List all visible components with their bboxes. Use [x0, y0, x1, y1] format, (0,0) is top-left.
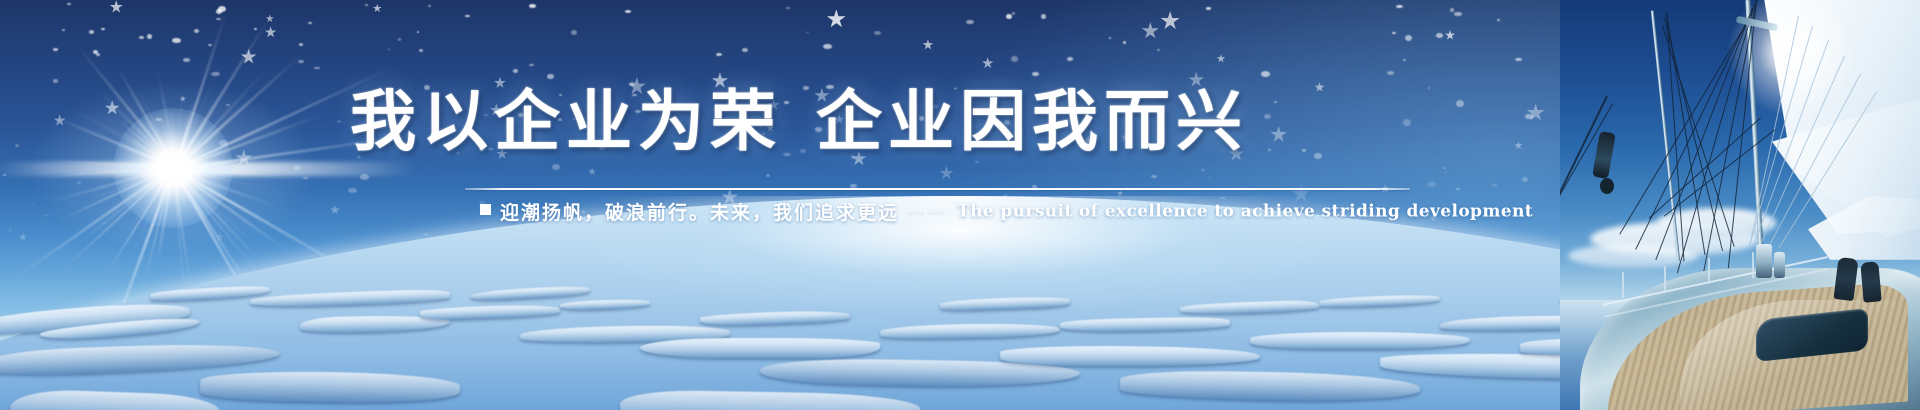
star-icon: [1405, 35, 1412, 42]
winch: [1756, 244, 1772, 278]
star-icon: [194, 29, 199, 33]
star-icon: [1456, 100, 1464, 107]
star-icon: [183, 58, 191, 62]
star-icon: [494, 77, 506, 89]
stanchion: [1752, 252, 1754, 278]
star-icon: [62, 29, 65, 31]
star-icon: [975, 161, 979, 163]
star-icon: [599, 144, 605, 149]
star-icon: [1011, 56, 1019, 62]
star-icon: [635, 110, 641, 113]
star-icon: [490, 103, 503, 116]
star-icon: [67, 3, 70, 6]
star-icon: [834, 114, 844, 124]
star-icon: [479, 148, 486, 152]
star-icon: [1427, 182, 1436, 187]
star-icon: [1302, 149, 1306, 152]
star-icon: [1454, 12, 1462, 15]
star-icon: [417, 31, 419, 33]
star-icon: [919, 116, 925, 121]
star-icon: [424, 85, 430, 90]
star-icon: [299, 43, 304, 46]
star-icon: [742, 48, 748, 52]
star-icon: [456, 152, 460, 154]
star-icon: [766, 174, 771, 177]
star-icon: [1086, 136, 1093, 142]
star-icon: [1202, 169, 1205, 171]
star-icon: [1067, 57, 1073, 61]
star-icon: [1141, 22, 1159, 40]
star-icon: [1456, 188, 1459, 190]
star-icon: [1274, 101, 1276, 103]
star-icon: [1160, 11, 1180, 31]
stanchion: [1708, 258, 1710, 284]
star-icon: [1314, 153, 1322, 160]
star-icon: [1381, 184, 1390, 193]
star-icon: [922, 39, 933, 50]
star-icon: [529, 64, 534, 66]
star-icon: [15, 144, 19, 147]
star-icon: [1151, 175, 1157, 178]
star-icon: [465, 15, 470, 17]
star-icon: [488, 148, 492, 150]
star-icon: [558, 118, 563, 121]
star-icon: [573, 118, 575, 120]
star-icon: [419, 49, 423, 52]
star-icon: [547, 74, 554, 79]
star-icon: [1392, 32, 1396, 35]
star-icon: [1032, 185, 1038, 190]
star-icon: [814, 88, 830, 104]
star-icon: [1492, 184, 1498, 186]
star-icon: [827, 9, 847, 29]
star-icon: [982, 57, 994, 69]
star-icon: [632, 94, 638, 97]
star-icon: [1006, 14, 1012, 19]
crew-member: [1860, 261, 1881, 302]
star-icon: [513, 69, 518, 73]
star-icon: [1387, 71, 1395, 75]
landmass: [640, 338, 880, 358]
star-icon: [826, 85, 834, 89]
star-icon: [172, 38, 181, 44]
star-icon: [208, 44, 212, 46]
star-icon: [874, 31, 881, 35]
star-icon: [766, 124, 775, 133]
stanchion: [1622, 272, 1624, 298]
star-icon: [768, 99, 780, 111]
star-icon: [966, 20, 974, 25]
star-icon: [53, 48, 58, 51]
star-icon: [298, 60, 304, 63]
star-icon: [216, 18, 221, 21]
star-icon: [1109, 37, 1112, 39]
star-icon: [1120, 132, 1130, 142]
star-icon: [1264, 114, 1272, 120]
star-icon: [1152, 148, 1155, 150]
star-icon: [628, 77, 647, 96]
star-icon: [428, 5, 431, 7]
star-icon: [1052, 95, 1060, 101]
star-icon: [716, 53, 722, 56]
star-icon: [529, 4, 536, 9]
stanchion: [1664, 266, 1666, 292]
star-icon: [1268, 149, 1271, 152]
star-icon: [1526, 104, 1545, 123]
star-icon: [1270, 126, 1287, 143]
star-icon: [786, 7, 790, 9]
landmass: [1000, 346, 1260, 366]
star-icon: [254, 28, 258, 31]
star-icon: [552, 164, 560, 171]
star-icon: [851, 151, 867, 167]
star-icon: [265, 26, 277, 38]
star-icon: [933, 105, 938, 108]
star-icon: [803, 86, 808, 91]
star-icon: [1396, 5, 1403, 8]
star-icon: [388, 49, 390, 51]
star-icon: [1209, 177, 1211, 179]
star-icon: [1515, 58, 1522, 61]
star-icon: [484, 114, 489, 116]
star-icon: [1443, 167, 1446, 169]
star-icon: [823, 44, 832, 49]
star-icon: [1403, 59, 1406, 61]
star-icon: [101, 28, 105, 31]
star-icon: [800, 149, 805, 152]
star-icon: [736, 147, 741, 149]
star-icon: [1217, 54, 1226, 63]
star-icon: [954, 88, 957, 90]
star-icon: [939, 166, 954, 181]
star-icon: [1497, 19, 1499, 21]
star-icon: [89, 30, 94, 34]
star-icon: [314, 67, 320, 70]
winch: [1774, 252, 1785, 278]
star-icon: [783, 153, 791, 157]
star-icon: [1444, 172, 1447, 174]
landmass: [1250, 332, 1470, 349]
star-icon: [1157, 49, 1160, 51]
star-icon: [1445, 30, 1456, 41]
star-icon: [518, 113, 524, 117]
star-icon: [1032, 72, 1039, 76]
star-icon: [1314, 82, 1324, 92]
star-icon: [1403, 119, 1411, 126]
star-icon: [1261, 71, 1270, 77]
star-icon: [357, 156, 361, 158]
star-icon: [732, 94, 740, 101]
star-icon: [373, 4, 382, 13]
star-icon: [784, 101, 790, 104]
star-icon: [1228, 146, 1244, 162]
star-icon: [365, 4, 368, 6]
star-icon: [110, 0, 124, 14]
star-icon: [496, 148, 508, 160]
star-icon: [1188, 72, 1204, 88]
star-icon: [1206, 7, 1211, 9]
star-icon: [629, 82, 635, 86]
star-icon: [571, 30, 577, 35]
star-icon: [1436, 33, 1443, 39]
star-icon: [1041, 14, 1047, 19]
rigging-block: [1600, 178, 1614, 194]
corporate-hero-banner: 我以企业为荣企业因我而兴 迎潮扬帆，破浪前行。未来，我们追求更远⋯⋯The pu…: [0, 0, 1920, 410]
star-icon: [906, 125, 912, 128]
star-icon: [1004, 120, 1010, 125]
star-icon: [815, 127, 822, 132]
star-icon: [559, 94, 562, 96]
star-icon: [762, 133, 766, 135]
star-icon: [1428, 87, 1430, 89]
star-icon: [1514, 141, 1523, 150]
star-icon: [139, 36, 144, 39]
star-icon: [1012, 12, 1015, 15]
star-icon: [398, 38, 401, 41]
star-icon: [93, 50, 98, 54]
star-icon: [308, 22, 312, 24]
star-icon: [625, 10, 631, 13]
star-icon: [806, 32, 809, 34]
star-icon: [712, 72, 729, 89]
star-icon: [588, 168, 596, 176]
sailboat-photo: [1560, 0, 1920, 410]
star-icon: [1123, 41, 1127, 44]
star-icon: [850, 184, 857, 188]
star-icon: [1450, 8, 1455, 12]
star-icon: [1522, 177, 1528, 182]
star-icon: [147, 34, 153, 39]
